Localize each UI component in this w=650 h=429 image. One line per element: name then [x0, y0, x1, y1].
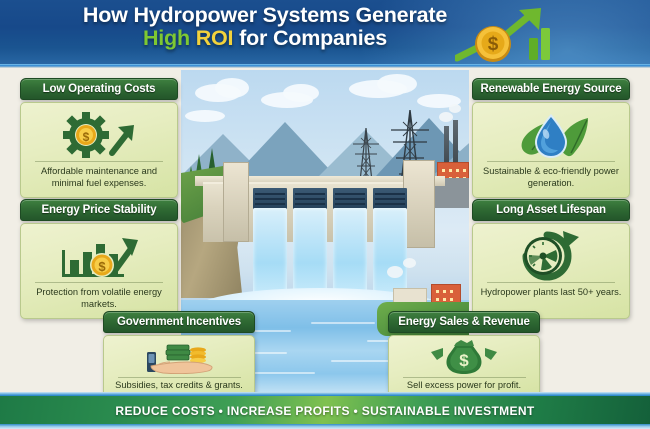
smokestack: [444, 126, 449, 166]
footer-tagline: REDUCE COSTS • INCREASE PROFITS • SUSTAI…: [0, 404, 650, 418]
card-body: $ Sell excess power for profit.: [388, 335, 540, 397]
card-header: Government Incentives: [103, 311, 255, 333]
water-spill: [253, 208, 287, 300]
card-renewable-energy-source[interactable]: Renewable Energy Source Sustainable & ec…: [472, 78, 630, 198]
cloud: [377, 74, 417, 94]
spillway-gate: [333, 188, 367, 210]
card-title: Energy Price Stability: [42, 204, 157, 216]
dam-tower: [403, 160, 435, 248]
card-title: Renewable Energy Source: [481, 83, 622, 95]
hand-holding-money-icon: [135, 339, 223, 377]
svg-text:$: $: [488, 34, 499, 55]
card-description: Sell excess power for profit.: [401, 378, 527, 392]
card-body: $ Protection from volatile energy market…: [20, 223, 178, 319]
card-description: Hydropower plants last 50+ years.: [475, 283, 628, 299]
card-header: Low Operating Costs: [20, 78, 178, 100]
title-high-word: High: [143, 26, 190, 50]
svg-text:$: $: [98, 259, 106, 274]
title-line-2: High ROI for Companies: [0, 27, 530, 50]
svg-text:$: $: [459, 351, 469, 370]
clock-turbine-arrow-icon: [511, 230, 591, 282]
card-header: Long Asset Lifespan: [472, 199, 630, 221]
water-spill: [293, 208, 327, 300]
card-body: Hydropower plants last 50+ years.: [472, 223, 630, 319]
smoke-puff: [403, 258, 416, 268]
smoke-puff: [449, 104, 461, 113]
dam-tower: [223, 162, 249, 242]
smoke-puff: [387, 266, 403, 278]
header-banner: How Hydropower Systems Generate High ROI…: [0, 0, 650, 68]
svg-text:$: $: [83, 130, 90, 144]
card-energy-sales-revenue[interactable]: Energy Sales & Revenue $ Sell excess pow…: [388, 311, 540, 397]
card-title: Government Incentives: [117, 316, 241, 328]
card-body: $ Affordable maintenance and minimal fue…: [20, 102, 178, 198]
spillway-gate: [293, 188, 327, 210]
card-body: Sustainable & eco-friendly power generat…: [472, 102, 630, 198]
card-low-operating-costs[interactable]: Low Operating Costs: [20, 78, 178, 198]
card-description: Protection from volatile energy markets.: [21, 283, 177, 311]
card-description: Affordable maintenance and minimal fuel …: [21, 162, 177, 190]
smoke-puff: [439, 112, 453, 122]
bar-chart-coin-arrow-icon: $: [54, 230, 144, 282]
coin-growth-chart-icon: $: [455, 4, 565, 66]
title-rest-words: for Companies: [239, 26, 387, 50]
card-long-asset-lifespan[interactable]: Long Asset Lifespan: [472, 199, 630, 319]
spillway-gate: [253, 188, 287, 210]
spillway-gate: [373, 188, 407, 210]
money-bag-dollar-icon: $: [421, 339, 507, 377]
card-description: Sustainable & eco-friendly power generat…: [473, 162, 629, 190]
water-spill: [373, 208, 407, 300]
card-title: Low Operating Costs: [43, 83, 156, 95]
page-title: How Hydropower Systems Generate High ROI…: [0, 4, 530, 50]
smokestack: [453, 120, 458, 166]
card-title: Long Asset Lifespan: [496, 204, 606, 216]
water-spill: [333, 208, 367, 300]
cloud: [283, 84, 319, 102]
title-line-1: How Hydropower Systems Generate: [0, 4, 530, 27]
card-government-incentives[interactable]: Government Incentives: [103, 311, 255, 397]
card-header: Energy Sales & Revenue: [388, 311, 540, 333]
infographic-canvas: How Hydropower Systems Generate High ROI…: [0, 0, 650, 429]
card-description: Subsidies, tax credits & grants.: [109, 378, 249, 392]
card-body: Subsidies, tax credits & grants.: [103, 335, 255, 397]
card-energy-price-stability[interactable]: Energy Price Stability $: [20, 199, 178, 319]
title-roi-word: ROI: [196, 26, 234, 50]
footer-banner: REDUCE COSTS • INCREASE PROFITS • SUSTAI…: [0, 392, 650, 429]
card-title: Energy Sales & Revenue: [398, 316, 530, 328]
card-header: Renewable Energy Source: [472, 78, 630, 100]
water-droplet-leaves-icon: [508, 109, 594, 161]
gear-coin-arrow-icon: $: [56, 109, 142, 161]
card-header: Energy Price Stability: [20, 199, 178, 221]
cloud: [215, 78, 249, 98]
